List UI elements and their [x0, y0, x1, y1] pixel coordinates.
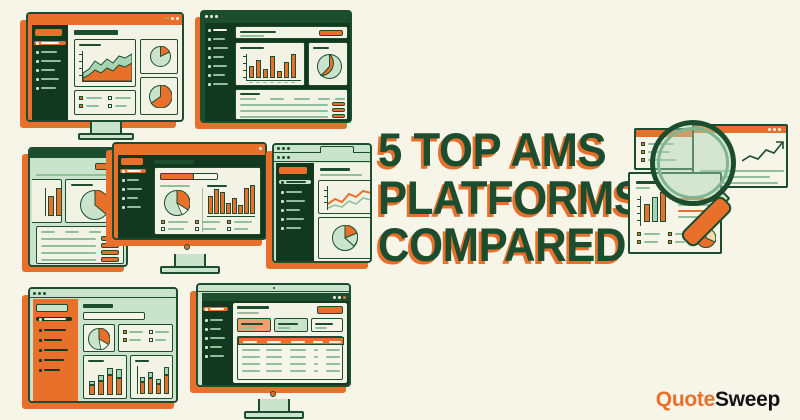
screen-bottom-center-monitor	[196, 283, 356, 420]
sidebar-item[interactable]	[36, 68, 55, 72]
logo-part-sweep: Sweep	[715, 388, 780, 411]
area-chart-panel	[74, 39, 136, 87]
table-row	[326, 349, 340, 351]
sidebar-item[interactable]	[281, 190, 302, 194]
sidebar-nav	[32, 25, 68, 120]
webcam-icon	[273, 287, 275, 289]
page-title	[154, 160, 194, 164]
table-row	[242, 370, 260, 372]
title-bar	[202, 12, 350, 21]
sidebar-item-active[interactable]	[203, 307, 228, 311]
table-header-cell	[318, 98, 330, 100]
maximize-icon[interactable]	[215, 15, 218, 18]
title-bar	[28, 14, 182, 23]
pie-chart-panel	[83, 324, 115, 352]
sidebar-item[interactable]	[208, 55, 224, 59]
maximize-icon[interactable]	[171, 17, 174, 20]
close-icon[interactable]	[176, 17, 179, 20]
power-indicator	[184, 244, 190, 250]
main-panel	[78, 299, 177, 402]
sidebar-item-active[interactable]	[279, 180, 311, 184]
reload-icon[interactable]	[287, 156, 290, 159]
table-header-cell	[89, 231, 101, 233]
table-row	[326, 356, 340, 358]
page-title	[320, 168, 350, 171]
close-icon[interactable]	[259, 147, 262, 150]
table-row	[314, 349, 318, 351]
sidebar-item[interactable]	[208, 37, 225, 41]
table-row	[240, 110, 328, 112]
page-title	[237, 306, 269, 309]
window-frame	[200, 10, 352, 123]
sidebar-item[interactable]	[39, 368, 60, 372]
app-title-bar	[202, 293, 349, 301]
minimize-icon[interactable]	[333, 296, 336, 299]
monitor-stand-base	[160, 266, 220, 274]
browser-toolbar	[274, 153, 370, 162]
sidebar-item-active[interactable]	[34, 41, 66, 45]
checklist-panel	[74, 90, 136, 115]
sidebar-nav	[33, 299, 75, 402]
row-action-button[interactable]	[332, 102, 345, 106]
table-row	[41, 252, 96, 254]
table-row	[290, 349, 306, 351]
screen-content	[118, 155, 265, 238]
minimize-icon[interactable]	[282, 147, 285, 150]
sidebar-nav	[118, 155, 148, 238]
brand-logo: QuoteSweep	[656, 388, 780, 412]
table-header-cell	[41, 231, 55, 233]
table-row	[266, 363, 282, 365]
table-header-cell	[329, 341, 341, 343]
primary-action-button[interactable]	[319, 30, 343, 36]
sidebar-item[interactable]	[122, 196, 138, 200]
sidebar-nav	[276, 163, 314, 263]
sidebar-item[interactable]	[39, 338, 62, 342]
title-bar	[114, 144, 265, 153]
table-row	[326, 363, 340, 365]
table-header-cell	[267, 341, 281, 343]
stat-card	[237, 318, 271, 332]
minimize-icon[interactable]	[165, 18, 169, 19]
table-row	[41, 245, 96, 247]
pie-chart	[164, 190, 190, 216]
primary-action-button[interactable]	[317, 306, 343, 314]
close-icon[interactable]	[343, 296, 346, 299]
minimize-icon[interactable]	[38, 292, 41, 295]
donut-chart	[149, 85, 172, 108]
table-row	[266, 370, 282, 372]
sidebar-item[interactable]	[39, 328, 66, 332]
table-header-cell	[65, 231, 79, 233]
sidebar-item[interactable]	[36, 77, 59, 81]
headline-line-2: PLATFORMS	[378, 176, 629, 221]
table-row	[290, 363, 306, 365]
table-header-cell	[291, 341, 305, 343]
pie-chart-panel	[308, 42, 348, 86]
sidebar-item[interactable]	[36, 86, 56, 90]
table-row	[240, 116, 328, 118]
window-frame	[28, 287, 178, 403]
data-table-panel	[235, 89, 348, 120]
table-row	[314, 370, 318, 372]
screen-mid-right-window	[272, 143, 376, 271]
screen-center-monitor	[112, 142, 272, 282]
table-row	[290, 370, 306, 372]
sidebar-item[interactable]	[39, 358, 64, 362]
sidebar-item[interactable]	[205, 327, 221, 331]
search-input[interactable]	[83, 312, 145, 320]
app-logo	[35, 29, 62, 36]
screen-bottom-left-window	[28, 287, 183, 409]
sidebar-item-active[interactable]	[208, 28, 227, 32]
line-chart	[328, 186, 371, 210]
headline-line-3: COMPARED	[378, 223, 629, 268]
pie-chart	[317, 54, 342, 79]
row-action-button[interactable]	[332, 114, 345, 118]
page-title	[83, 304, 113, 308]
magnifier-lens-highlight	[657, 127, 729, 199]
stacked-bar-chart-panel-2	[130, 355, 173, 399]
table-header-cell	[240, 98, 256, 100]
sidebar-item[interactable]	[36, 59, 61, 63]
title-bar	[198, 285, 349, 292]
title-bar	[30, 289, 176, 298]
sidebar-item[interactable]	[36, 50, 57, 54]
checklist-panel	[118, 324, 173, 352]
app-logo	[279, 167, 307, 174]
table-header-cell	[335, 98, 345, 100]
area-chart	[83, 51, 132, 81]
headline-line-1: 5 TOP AMS	[378, 128, 629, 173]
table-row	[266, 356, 282, 358]
screen-top-right-window	[200, 10, 356, 130]
sidebar-item[interactable]	[281, 217, 304, 221]
sidebar-item[interactable]	[205, 336, 225, 340]
sidebar-item[interactable]	[205, 345, 222, 349]
table-row	[41, 238, 96, 240]
screen-content	[202, 293, 349, 385]
table-header-cell	[270, 98, 284, 100]
dashboard-collage-illustration	[0, 0, 380, 420]
sidebar-item[interactable]	[208, 64, 227, 68]
screen-content	[33, 299, 177, 402]
screen-content	[276, 163, 372, 263]
magnifier-illustration	[620, 110, 795, 275]
stacked-bar-chart-panel-1	[83, 355, 127, 399]
sidebar-item[interactable]	[208, 82, 228, 86]
table-header-row	[238, 337, 344, 345]
headline: 5 TOP AMS PLATFORMS COMPARED	[378, 128, 648, 271]
panel-title	[313, 47, 329, 49]
browser-frame	[272, 143, 372, 263]
maximize-icon[interactable]	[287, 147, 290, 150]
stat-card	[274, 318, 308, 332]
panel-title	[71, 184, 93, 186]
content-topbar	[235, 26, 348, 39]
close-icon[interactable]	[205, 15, 208, 18]
progress-bar-track	[160, 173, 218, 180]
pie-chart	[150, 46, 171, 67]
sidebar-item[interactable]	[208, 46, 228, 50]
sidebar-nav	[202, 301, 230, 385]
close-icon[interactable]	[277, 147, 280, 150]
pie-chart	[332, 225, 358, 251]
table-header-cell	[294, 98, 310, 100]
minimize-icon[interactable]	[210, 15, 213, 18]
sidebar-item[interactable]	[281, 208, 300, 212]
monitor-bezel	[26, 12, 184, 122]
sidebar-item[interactable]	[122, 187, 142, 191]
table-row	[240, 104, 328, 106]
sidebar-item[interactable]	[205, 318, 223, 322]
table-row	[242, 363, 260, 365]
monitor-bezel	[112, 142, 267, 240]
table-title	[240, 93, 260, 95]
sidebar-item[interactable]	[205, 354, 224, 358]
pie-chart-panel	[318, 217, 372, 259]
pie-chart	[88, 328, 110, 350]
bar-chart-panel	[235, 42, 305, 86]
data-table-panel	[237, 336, 343, 380]
screen-content	[32, 25, 182, 120]
table-row	[242, 356, 260, 358]
panel-title	[79, 44, 101, 46]
sidebar-item[interactable]	[281, 226, 301, 230]
back-icon[interactable]	[277, 156, 280, 159]
stat-card	[311, 318, 343, 332]
forward-icon[interactable]	[282, 156, 285, 159]
power-indicator	[270, 391, 276, 397]
close-icon[interactable]	[33, 292, 36, 295]
x-axis	[82, 81, 132, 82]
table-row	[41, 259, 96, 261]
page-title	[74, 30, 118, 35]
sidebar-nav	[205, 23, 232, 122]
pie-chart-panel	[140, 39, 178, 74]
sidebar-item[interactable]	[208, 73, 225, 77]
sidebar-item-active[interactable]	[36, 317, 72, 321]
maximize-icon[interactable]	[338, 296, 341, 299]
table-row	[314, 363, 318, 365]
main-panel	[233, 303, 347, 383]
app-logo	[36, 304, 68, 312]
panel-title	[240, 47, 264, 49]
monitor-stand-base	[78, 133, 134, 140]
sidebar-item[interactable]	[122, 178, 139, 182]
table-row	[242, 349, 260, 351]
table-header-cell	[313, 341, 323, 343]
sidebar-item[interactable]	[122, 205, 141, 209]
table-row	[314, 356, 318, 358]
row-action-button[interactable]	[332, 108, 345, 112]
screen-content	[205, 23, 351, 122]
logo-part-quote: Quote	[656, 388, 715, 411]
sidebar-item[interactable]	[39, 348, 68, 352]
table-row	[266, 349, 282, 351]
table-row	[326, 370, 340, 372]
bar-chart-panel	[32, 179, 62, 223]
main-panel	[154, 167, 261, 235]
app-logo	[121, 158, 143, 165]
poster-canvas: 5 TOP AMS PLATFORMS COMPARED	[0, 0, 800, 420]
monitor-bezel	[196, 283, 351, 387]
line-chart-panel	[318, 180, 372, 214]
screen-top-left-monitor	[26, 12, 186, 142]
sidebar-item[interactable]	[281, 199, 305, 203]
monitor-stand-base	[244, 411, 304, 419]
donut-chart-panel	[140, 77, 178, 115]
line-chart	[742, 140, 784, 164]
progress-bar-fill	[160, 173, 194, 180]
table-header-cell	[243, 341, 257, 343]
sidebar-item-active[interactable]	[120, 169, 146, 173]
table-row	[290, 356, 306, 358]
maximize-icon[interactable]	[43, 292, 46, 295]
